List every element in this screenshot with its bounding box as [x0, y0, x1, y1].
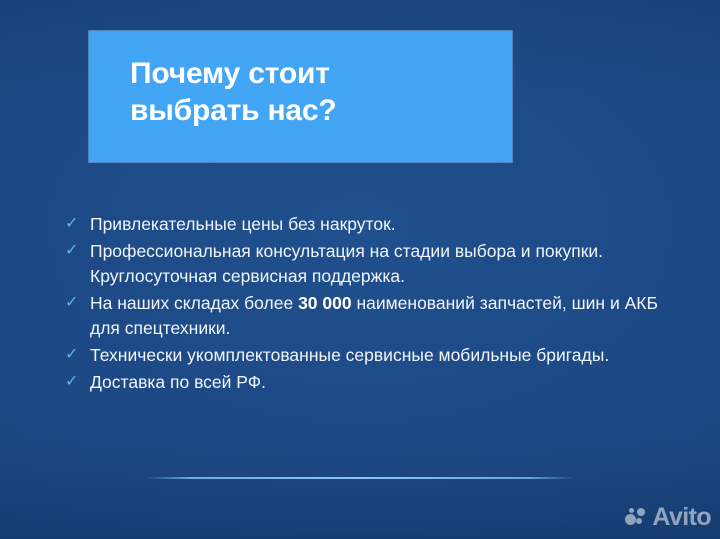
list-item-label: На наших складах более 30 000 наименован…: [90, 291, 662, 342]
check-icon: ✓: [65, 240, 81, 262]
check-icon: ✓: [65, 292, 81, 314]
check-icon: ✓: [65, 344, 81, 366]
check-icon: ✓: [65, 213, 81, 235]
avito-logo-icon: [625, 507, 648, 529]
page-title: Почему стоит выбрать нас?: [130, 55, 500, 129]
list-item-label: Профессиональная консультация на стадии …: [90, 239, 662, 290]
feature-list: ✓ Привлекательные цены без накруток. ✓ П…: [62, 212, 662, 396]
list-item-label: Доставка по всей РФ.: [90, 370, 662, 396]
divider: [148, 477, 572, 479]
avito-watermark: Avito: [625, 505, 711, 530]
list-item: ✓ Профессиональная консультация на стади…: [62, 239, 662, 290]
list-item-text-before: На наших складах более: [90, 293, 298, 313]
list-item-label: Технически укомплектованные сервисные мо…: [90, 343, 662, 369]
list-item: ✓ Доставка по всей РФ.: [62, 370, 662, 396]
list-item-emphasis: 30 000: [298, 293, 352, 313]
slide-canvas: Почему стоит выбрать нас? ✓ Привлекатель…: [0, 0, 720, 539]
list-item: ✓ Привлекательные цены без накруток.: [62, 212, 662, 238]
list-item: ✓ Технически укомплектованные сервисные …: [62, 343, 662, 369]
list-item: ✓ На наших складах более 30 000 наименов…: [62, 291, 662, 342]
list-item-label: Привлекательные цены без накруток.: [90, 212, 662, 238]
check-icon: ✓: [65, 371, 81, 393]
avito-watermark-label: Avito: [652, 505, 711, 530]
title-banner: Почему стоит выбрать нас?: [89, 31, 512, 162]
